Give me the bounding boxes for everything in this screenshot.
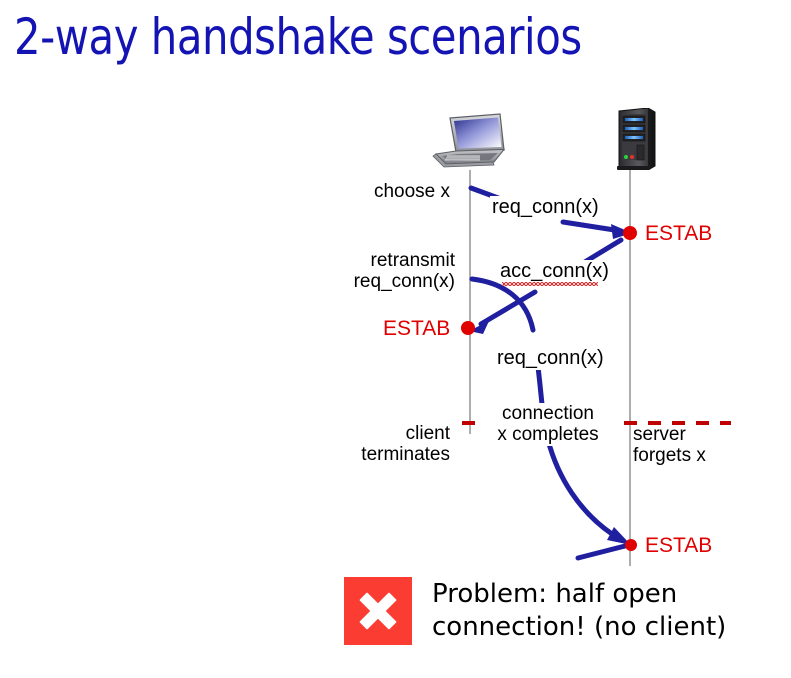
arrow-acc-conn: [469, 240, 621, 334]
msg-req-conn-2: req_conn(x): [495, 347, 606, 370]
server-forgets-label: server forgets x: [633, 424, 773, 467]
estab-server-2: ESTAB: [645, 534, 712, 558]
estab-dot-server-1: [623, 226, 637, 240]
x-error-icon: [344, 577, 412, 645]
choose-x-label: choose x: [300, 181, 450, 202]
msg-acc-conn: acc_conn(x): [498, 260, 611, 283]
estab-dot-client-1: [461, 321, 475, 335]
msg-req-conn-1: req_conn(x): [490, 196, 601, 219]
estab-dot-server-2: [625, 539, 637, 551]
estab-server-1: ESTAB: [645, 222, 712, 246]
problem-callout-text: Problem: half open connection! (no clien…: [432, 578, 726, 644]
slide-canvas: 2-way handshake scenarios: [0, 0, 791, 678]
estab-client-1: ESTAB: [383, 317, 450, 341]
spellcheck-squiggle: [502, 282, 598, 286]
retransmit-label: retransmit req_conn(x): [280, 250, 455, 293]
problem-callout: Problem: half open connection! (no clien…: [344, 577, 726, 645]
client-terminates-label: client terminates: [290, 423, 450, 466]
connection-completes-note: connection x completes: [482, 403, 614, 446]
arrow-bottom-tail: [578, 546, 625, 558]
